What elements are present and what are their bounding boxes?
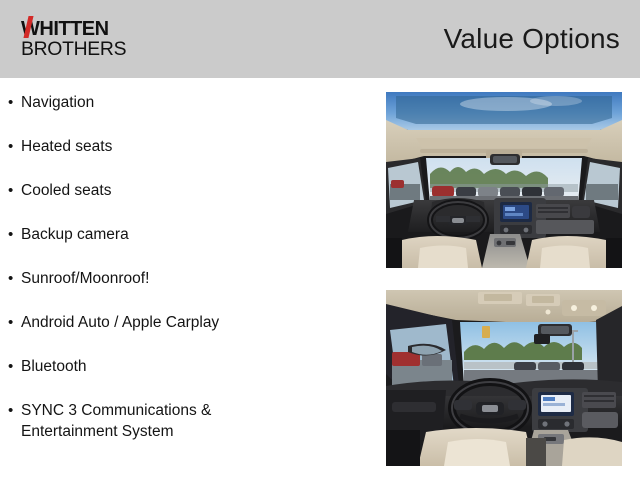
list-item: • Heated seats (8, 136, 368, 157)
list-item-label: Navigation (21, 92, 368, 113)
bullet-marker-icon: • (8, 400, 21, 421)
list-item: • Navigation (8, 92, 368, 113)
list-item-label: Heated seats (21, 136, 368, 157)
list-item: • SYNC 3 Communications & Entertainment … (8, 400, 368, 442)
list-item-label: Sunroof/Moonroof! (21, 268, 368, 289)
list-item: • Backup camera (8, 224, 368, 245)
logo-line-one-text: WHITTEN (21, 18, 109, 40)
whitten-brothers-logo: WHITTEN BROTHERS (21, 19, 113, 61)
value-options-list: • Navigation • Heated seats • Cooled sea… (8, 92, 368, 465)
bullet-marker-icon: • (8, 312, 21, 333)
list-item: • Sunroof/Moonroof! (8, 268, 368, 289)
bullet-marker-icon: • (8, 356, 21, 377)
truck-dashboard-illustration (386, 290, 622, 466)
list-item-label: Bluetooth (21, 356, 368, 377)
list-item-label: Android Auto / Apple Carplay (21, 312, 368, 333)
truck-interior-moonroof-photo (386, 92, 622, 268)
truck-interior-moonroof-illustration (386, 92, 622, 268)
bullet-marker-icon: • (8, 268, 21, 289)
bullet-marker-icon: • (8, 92, 21, 113)
list-item: • Cooled seats (8, 180, 368, 201)
list-item-label: Backup camera (21, 224, 368, 245)
logo-line-one: WHITTEN (21, 19, 113, 40)
list-item-label: Cooled seats (21, 180, 368, 201)
list-item-label: SYNC 3 Communications & Entertainment Sy… (21, 400, 368, 442)
list-item: • Bluetooth (8, 356, 368, 377)
bullet-marker-icon: • (8, 180, 21, 201)
bullet-marker-icon: • (8, 224, 21, 245)
logo-line-two: BROTHERS (21, 40, 115, 60)
page-title: Value Options (444, 23, 620, 55)
truck-dashboard-photo (386, 290, 622, 466)
list-item: • Android Auto / Apple Carplay (8, 312, 368, 333)
bullet-marker-icon: • (8, 136, 21, 157)
